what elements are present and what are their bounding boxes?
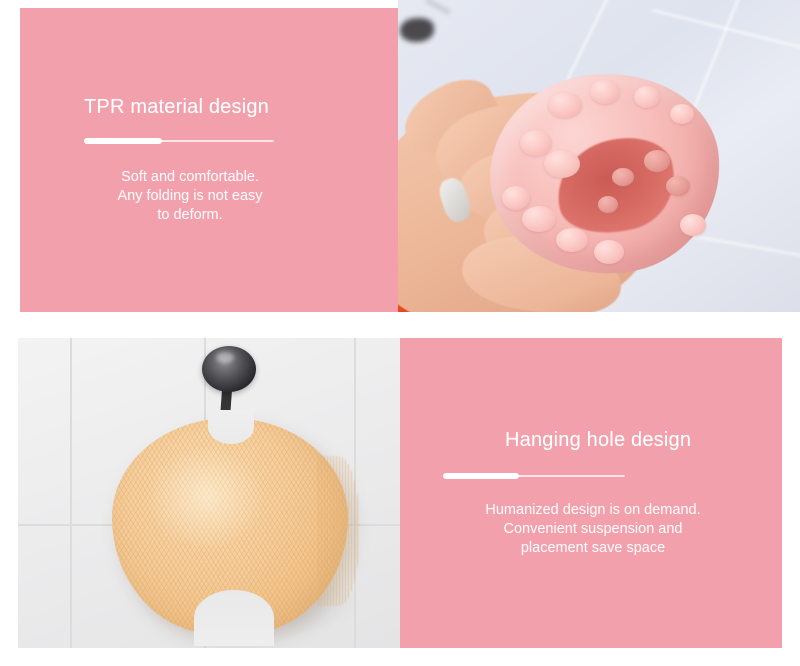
feature-body-tpr-material: Soft and comfortable. Any folding is not… [84, 168, 296, 225]
brush-hanging-notch [208, 410, 254, 444]
brush-edge-bristles [318, 456, 360, 606]
feature-panel-hanging-hole-content: Hanging hole design Humanized design is … [400, 429, 782, 558]
divider-thick-segment [84, 138, 162, 144]
tile-grout-line [70, 338, 72, 648]
feature-panel-tpr-material: TPR material design Soft and comfortable… [20, 8, 398, 312]
brush-nub [598, 196, 618, 213]
brush-nub [548, 92, 582, 118]
brush-nub [670, 104, 694, 124]
brush-highlight [146, 446, 266, 550]
feature-body-line: Any folding is not easy [84, 187, 296, 206]
brush-nub [502, 186, 530, 210]
brush-nub [556, 228, 588, 252]
brush-nub [666, 176, 690, 196]
divider-thin-segment [517, 475, 625, 477]
suction-cup-highlight [216, 352, 234, 363]
feature-title-hanging-hole: Hanging hole design [443, 429, 782, 452]
feature-panel-hanging-hole: Hanging hole design Humanized design is … [400, 338, 782, 648]
feature-title-tpr-material: TPR material design [84, 96, 398, 119]
feature-divider-tpr-material [84, 137, 274, 146]
brush-bottom-notch [194, 590, 274, 646]
brush-nub [544, 150, 580, 178]
brush-nub [520, 130, 552, 156]
background-dark-hook [400, 18, 434, 42]
brush-nub [594, 240, 624, 264]
brush-nub [612, 168, 634, 186]
brush-nub [522, 206, 556, 232]
brush-nub [680, 214, 706, 236]
feature-body-line: to deform. [84, 206, 296, 225]
divider-thick-segment [443, 473, 519, 479]
feature-body-line: Humanized design is on demand. [443, 501, 743, 520]
divider-thin-segment [160, 140, 274, 142]
product-photo-hand-squeezing-brush [398, 0, 800, 312]
brush-nub [590, 80, 620, 104]
feature-body-line: Convenient suspension and [443, 520, 743, 539]
feature-body-hanging-hole: Humanized design is on demand. Convenien… [443, 501, 743, 558]
feature-body-line: Soft and comfortable. [84, 168, 296, 187]
background-hook-stem [424, 0, 451, 15]
feature-body-line: placement save space [443, 539, 743, 558]
feature-panel-tpr-material-content: TPR material design Soft and comfortable… [20, 96, 398, 225]
brush-nub [644, 150, 670, 172]
brush-nub [634, 86, 660, 108]
feature-divider-hanging-hole [443, 472, 625, 481]
tile-grout-line [651, 9, 800, 75]
product-photo-brush-hanging-on-wall [18, 338, 400, 648]
